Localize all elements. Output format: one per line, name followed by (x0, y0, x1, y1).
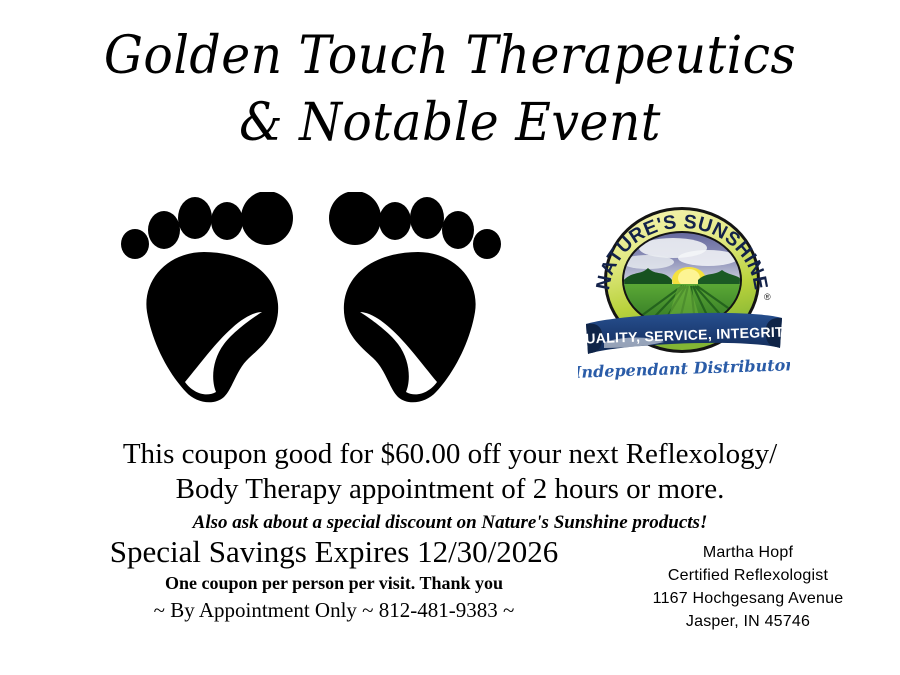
offer-line-2: Body Therapy appointment of 2 hours or m… (0, 472, 900, 507)
contact-credential: Certified Reflexologist (614, 564, 882, 587)
page-title: Golden Touch Therapeutics & Notable Even… (0, 26, 900, 154)
savings-headline: Special Savings Expires 12/30/2026 (78, 533, 590, 571)
title-line-primary: Golden Touch Therapeutics (27, 26, 873, 86)
offer-line-1: This coupon good for $60.00 off your nex… (0, 437, 900, 472)
natures-sunshine-logo: NATURE'S SUNSHINE ® QUALITY, SERVICE, IN… (578, 196, 790, 392)
contact-street: 1167 Hochgesang Avenue (614, 587, 882, 610)
offer-text-block: This coupon good for $60.00 off your nex… (0, 437, 900, 537)
contact-city-state-zip: Jasper, IN 45746 (614, 610, 882, 633)
title-line-secondary: & Notable Event (27, 92, 873, 154)
left-footprint (112, 192, 302, 404)
savings-block: Special Savings Expires 12/30/2026 One c… (78, 533, 590, 624)
coupon-flyer: Golden Touch Therapeutics & Notable Even… (0, 0, 900, 675)
registered-trademark-icon: ® (764, 292, 771, 302)
savings-restriction-note: One coupon per person per visit. Thank y… (78, 571, 590, 596)
contact-name: Martha Hopf (614, 541, 882, 564)
appointment-phone-line: ~ By Appointment Only ~ 812-481-9383 ~ (78, 596, 590, 624)
right-footprint (320, 192, 510, 404)
contact-block: Martha Hopf Certified Reflexologist 1167… (614, 541, 882, 633)
logo-distributor-text: Independant Distributor (578, 355, 790, 382)
footprints-graphic (112, 192, 532, 404)
